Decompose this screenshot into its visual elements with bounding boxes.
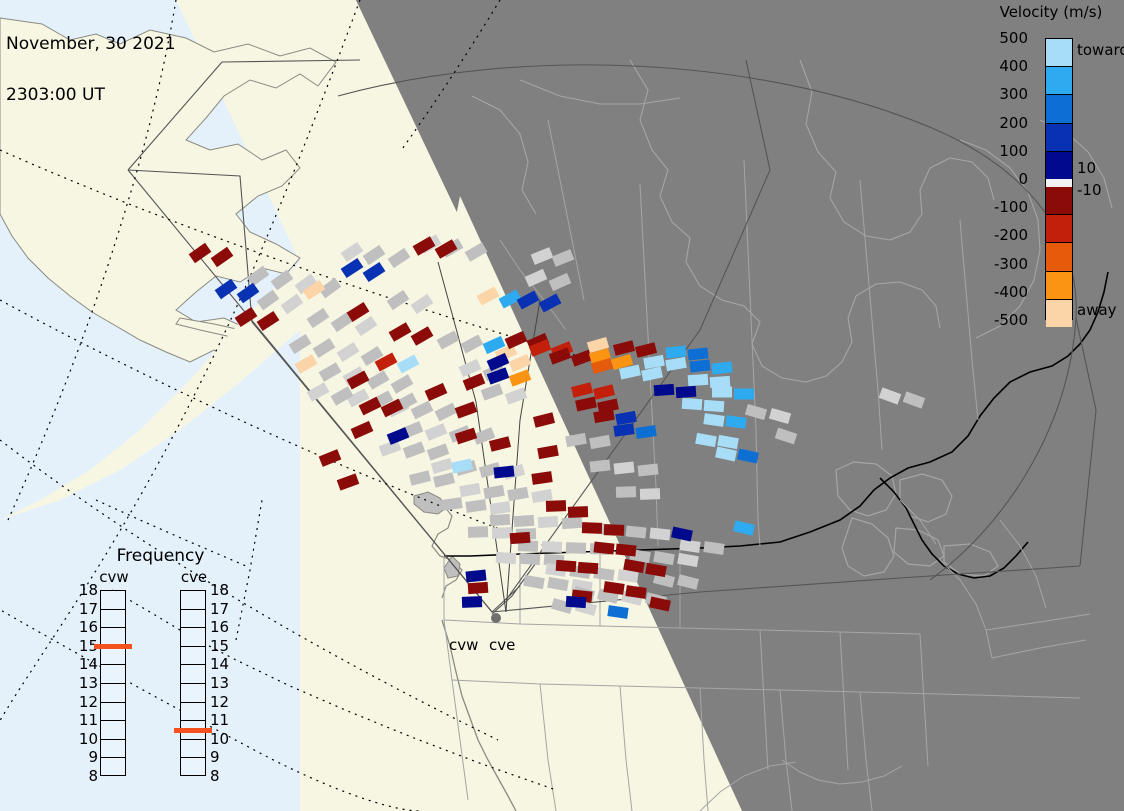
velocity-cell	[717, 435, 739, 449]
ground-scatter-cell	[769, 408, 791, 424]
ground-scatter-cell	[481, 383, 504, 400]
ground-scatter-cell	[562, 517, 583, 529]
frequency-segment	[181, 703, 205, 722]
velocity-cell	[319, 449, 342, 467]
colorbar-band	[1046, 152, 1072, 179]
frequency-tick: 11	[210, 711, 229, 729]
ground-scatter-cell	[549, 273, 572, 291]
colorbar-tick: -400	[994, 283, 1028, 301]
velocity-cell	[571, 382, 593, 398]
velocity-cell	[510, 532, 531, 544]
frequency-segment	[181, 758, 205, 777]
velocity-cell	[593, 541, 614, 554]
velocity-cell	[556, 560, 577, 572]
ground-scatter-cell	[409, 470, 431, 486]
frequency-bar-cvw	[100, 590, 126, 776]
colorbar-toward-label: toward	[1077, 41, 1124, 59]
velocity-cell	[734, 389, 754, 400]
velocity-cell	[725, 415, 746, 429]
frequency-tick: 9	[210, 748, 220, 766]
colorbar-band	[1046, 67, 1072, 95]
velocity-cell	[235, 307, 258, 327]
velocity-cell	[712, 387, 732, 398]
ground-scatter-cell	[307, 308, 330, 328]
velocity-cell	[613, 423, 634, 437]
ground-scatter-cell	[616, 486, 636, 498]
velocity-cell	[649, 597, 671, 612]
ground-scatter-cell	[313, 338, 336, 358]
frequency-tick: 8	[88, 767, 98, 785]
ground-scatter-cell	[337, 342, 360, 362]
velocity-cell	[257, 311, 280, 331]
ground-scatter-cell	[289, 334, 312, 354]
ground-scatter-cell	[490, 514, 511, 526]
ground-scatter-cell	[677, 574, 699, 590]
frequency-tick: 13	[210, 674, 229, 692]
ground-scatter-cell	[523, 575, 545, 589]
frequency-segment	[101, 758, 125, 777]
velocity-cell	[425, 383, 448, 401]
velocity-cell	[215, 279, 238, 299]
velocity-cell	[704, 400, 725, 412]
colorbar-tick: 500	[999, 29, 1028, 47]
ground-scatter-cell	[307, 382, 330, 402]
velocity-cell	[411, 326, 434, 346]
frequency-segment	[101, 684, 125, 703]
ground-scatter-cell	[435, 403, 458, 422]
frequency-tick: 12	[210, 693, 229, 711]
velocity-cell	[593, 384, 615, 400]
ground-scatter-cell	[461, 334, 484, 353]
frequency-tick: 10	[79, 730, 98, 748]
velocity-cell	[509, 354, 532, 372]
ground-scatter-cell	[257, 290, 280, 311]
radar-map-figure: November, 30 2021 2303:00 UT cvw cve Vel…	[0, 0, 1124, 811]
ground-scatter-cell	[388, 248, 411, 268]
frequency-column-cve: cve 18171615141312111098	[164, 568, 224, 794]
velocity-cell	[715, 447, 737, 462]
ground-scatter-cell	[459, 359, 482, 377]
ground-scatter-cell	[745, 404, 767, 420]
ground-scatter-cell	[387, 290, 410, 310]
velocity-cell	[654, 384, 675, 396]
ground-scatter-cell	[483, 485, 505, 499]
ground-scatter-cell	[677, 553, 699, 567]
velocity-cell	[546, 500, 566, 512]
colorbar-tick: -100	[994, 198, 1028, 216]
velocity-cell	[575, 397, 597, 412]
velocity-cell	[295, 354, 318, 374]
frequency-segment	[101, 610, 125, 629]
frequency-segment	[101, 703, 125, 722]
colorbar-band	[1046, 39, 1072, 67]
velocity-cell	[341, 258, 364, 278]
ground-scatter-cell	[247, 266, 270, 287]
velocity-cell	[710, 376, 731, 388]
velocity-cell	[566, 596, 587, 608]
frequency-tick: 17	[79, 600, 98, 618]
velocity-cell	[613, 340, 635, 356]
velocity-cell	[509, 369, 532, 386]
frequency-segment	[101, 665, 125, 684]
velocity-cell	[389, 322, 412, 342]
ground-scatter-cell	[433, 472, 455, 488]
ground-scatter-cell	[547, 577, 569, 591]
frequency-segment	[101, 721, 125, 740]
velocity-cell	[499, 289, 522, 308]
frequency-bar-cve	[180, 590, 206, 776]
velocity-cell	[582, 522, 602, 534]
velocity-cell	[337, 473, 360, 490]
velocity-cell	[189, 243, 212, 263]
colorbar-band	[1046, 300, 1072, 327]
velocity-cell	[493, 465, 514, 478]
frequency-tick: 18	[210, 581, 229, 599]
frequency-segment	[181, 647, 205, 666]
velocity-cell	[517, 290, 540, 309]
frequency-tick: 9	[88, 748, 98, 766]
frequency-tick: 10	[210, 730, 229, 748]
velocity-cell	[462, 596, 482, 608]
ground-scatter-cell	[363, 245, 386, 265]
colorbar-title: Velocity (m/s)	[978, 3, 1124, 21]
ground-scatter-cell	[411, 294, 434, 314]
velocity-cell	[689, 359, 710, 372]
frequency-tick: 16	[210, 618, 229, 636]
ground-scatter-cell	[489, 501, 510, 515]
ground-scatter-cell	[391, 374, 414, 394]
ground-scatter-cell	[281, 294, 304, 315]
velocity-cell	[531, 471, 552, 485]
velocity-cell	[682, 398, 703, 410]
ground-scatter-cell	[879, 387, 902, 404]
colorbar-tick: -500	[994, 311, 1028, 329]
frequency-column-cvw: cvw 18171615141312111098	[84, 568, 144, 794]
ground-scatter-cell	[341, 242, 364, 262]
velocity-cell	[695, 433, 717, 447]
frequency-tick: 14	[210, 655, 229, 673]
frequency-tick: 18	[79, 581, 98, 599]
ground-scatter-cell	[431, 458, 453, 474]
velocity-cell	[578, 562, 599, 574]
ground-scatter-cell	[589, 459, 610, 472]
colorbar-away-label: away	[1077, 301, 1117, 319]
map-site-label-cvw: cvw	[449, 636, 478, 654]
ground-scatter-cell	[271, 270, 294, 291]
colorbar-band	[1046, 187, 1072, 215]
timestamp-date: November, 30 2021	[6, 36, 176, 53]
frequency-segment	[181, 740, 205, 759]
velocity-cell	[533, 412, 555, 428]
ground-scatter-cell	[465, 242, 488, 262]
frequency-segment	[101, 591, 125, 610]
ground-scatter-cell	[367, 370, 390, 390]
ground-scatter-cell	[520, 553, 541, 565]
frequency-tick: 16	[79, 618, 98, 636]
frequency-segment	[181, 628, 205, 647]
frequency-tick: 15	[210, 637, 229, 655]
ground-scatter-cell	[459, 483, 481, 497]
colorbar-zero-high-label: 10	[1077, 159, 1096, 177]
velocity-cell	[635, 342, 657, 358]
velocity-cell	[607, 605, 628, 619]
velocity-cell	[737, 449, 759, 464]
velocity-cell	[505, 331, 528, 349]
velocity-cell	[604, 524, 624, 536]
ground-scatter-cell	[514, 515, 535, 527]
velocity-cell	[665, 357, 687, 371]
frequency-segment	[181, 665, 205, 684]
ground-scatter-cell	[538, 516, 559, 528]
map-site-label-cve: cve	[489, 636, 515, 654]
timestamp-block: November, 30 2021 2303:00 UT	[6, 2, 176, 138]
colorbar-band	[1046, 179, 1072, 187]
velocity-cell	[468, 582, 489, 594]
frequency-tick: 13	[79, 674, 98, 692]
velocity-cell	[733, 520, 755, 536]
colorbar-tick: -200	[994, 226, 1028, 244]
ground-scatter-cell	[403, 441, 426, 458]
velocity-cell	[237, 283, 260, 303]
colorbar-tick: 0	[1018, 170, 1028, 188]
ground-scatter-cell	[649, 527, 670, 540]
velocity-cell	[687, 347, 708, 360]
ground-scatter-cell	[319, 362, 342, 382]
velocity-cell	[615, 411, 637, 425]
velocity-cell	[568, 506, 588, 518]
velocity-cell	[615, 543, 636, 556]
ground-scatter-cell	[613, 461, 634, 474]
velocity-colorbar: Velocity (m/s) 5004003002001000-100-200-…	[978, 0, 1124, 340]
velocity-cell	[463, 373, 486, 391]
colorbar-gradient	[1045, 38, 1073, 320]
ground-scatter-cell	[589, 435, 611, 449]
colorbar-band	[1046, 272, 1072, 300]
velocity-cell	[711, 361, 732, 374]
ground-scatter-cell	[903, 391, 926, 408]
frequency-tick: 17	[210, 600, 229, 618]
colorbar-tick: -300	[994, 255, 1028, 273]
frequency-segment	[181, 610, 205, 629]
ground-scatter-cell	[355, 316, 378, 336]
ground-scatter-cell	[496, 552, 517, 564]
frequency-tick: 12	[79, 693, 98, 711]
frequency-legend: Frequency cvw 18171615141312111098 cve 1…	[78, 546, 243, 796]
colorbar-band	[1046, 124, 1072, 152]
velocity-cell	[537, 445, 559, 459]
velocity-cell	[643, 355, 665, 369]
velocity-cell	[645, 563, 667, 577]
ground-scatter-cell	[465, 499, 486, 513]
velocity-cell	[351, 421, 374, 439]
ground-scatter-cell	[427, 443, 450, 460]
velocity-cell	[455, 401, 478, 418]
colorbar-tick: 200	[999, 114, 1028, 132]
ground-scatter-cell	[637, 463, 658, 476]
velocity-cell	[211, 247, 234, 267]
frequency-legend-title: Frequency	[78, 546, 243, 566]
ground-scatter-cell	[492, 527, 512, 539]
timestamp-time: 2303:00 UT	[6, 87, 176, 104]
colorbar-tick: 400	[999, 57, 1028, 75]
ground-scatter-cell	[552, 249, 575, 267]
ground-scatter-cell	[566, 542, 586, 554]
velocity-cell	[635, 425, 656, 439]
frequency-marker-cvw	[94, 644, 132, 649]
colorbar-tick: 100	[999, 142, 1028, 160]
ground-scatter-cell	[505, 387, 528, 404]
velocity-cell	[688, 374, 709, 386]
ground-scatter-cell	[468, 526, 488, 538]
ground-scatter-cell	[531, 247, 554, 265]
velocity-cell	[703, 413, 724, 427]
ground-scatter-cell	[640, 488, 660, 500]
colorbar-band	[1046, 243, 1072, 271]
velocity-cell	[363, 262, 386, 282]
ground-scatter-cell	[625, 525, 646, 538]
frequency-marker-cve	[174, 728, 212, 733]
velocity-cell	[641, 367, 663, 382]
ground-scatter-cell	[703, 541, 724, 555]
velocity-cell	[539, 293, 562, 312]
ground-scatter-cell	[653, 551, 675, 565]
velocity-cell	[676, 386, 697, 398]
colorbar-tick: 300	[999, 85, 1028, 103]
frequency-segment	[101, 740, 125, 759]
velocity-cell	[665, 345, 686, 358]
velocity-cell	[465, 569, 486, 582]
velocity-cell	[671, 527, 693, 542]
ground-scatter-cell	[775, 428, 797, 445]
ground-scatter-cell	[542, 541, 562, 553]
frequency-tick: 11	[79, 711, 98, 729]
frequency-segment	[181, 591, 205, 610]
frequency-segment	[181, 684, 205, 703]
velocity-cell	[477, 286, 500, 305]
colorbar-band	[1046, 215, 1072, 243]
colorbar-zero-low-label: -10	[1077, 181, 1102, 199]
frequency-tick: 14	[79, 655, 98, 673]
ground-scatter-cell	[441, 497, 462, 511]
ground-scatter-cell	[425, 423, 448, 441]
ground-scatter-cell	[507, 487, 529, 501]
velocity-cell	[397, 354, 420, 373]
frequency-tick: 8	[210, 767, 220, 785]
ground-scatter-cell	[565, 433, 587, 447]
frequency-segment	[101, 647, 125, 666]
ground-scatter-cell	[525, 269, 548, 287]
colorbar-band	[1046, 95, 1072, 123]
ground-scatter-cell	[437, 330, 460, 349]
velocity-cell	[593, 409, 615, 423]
